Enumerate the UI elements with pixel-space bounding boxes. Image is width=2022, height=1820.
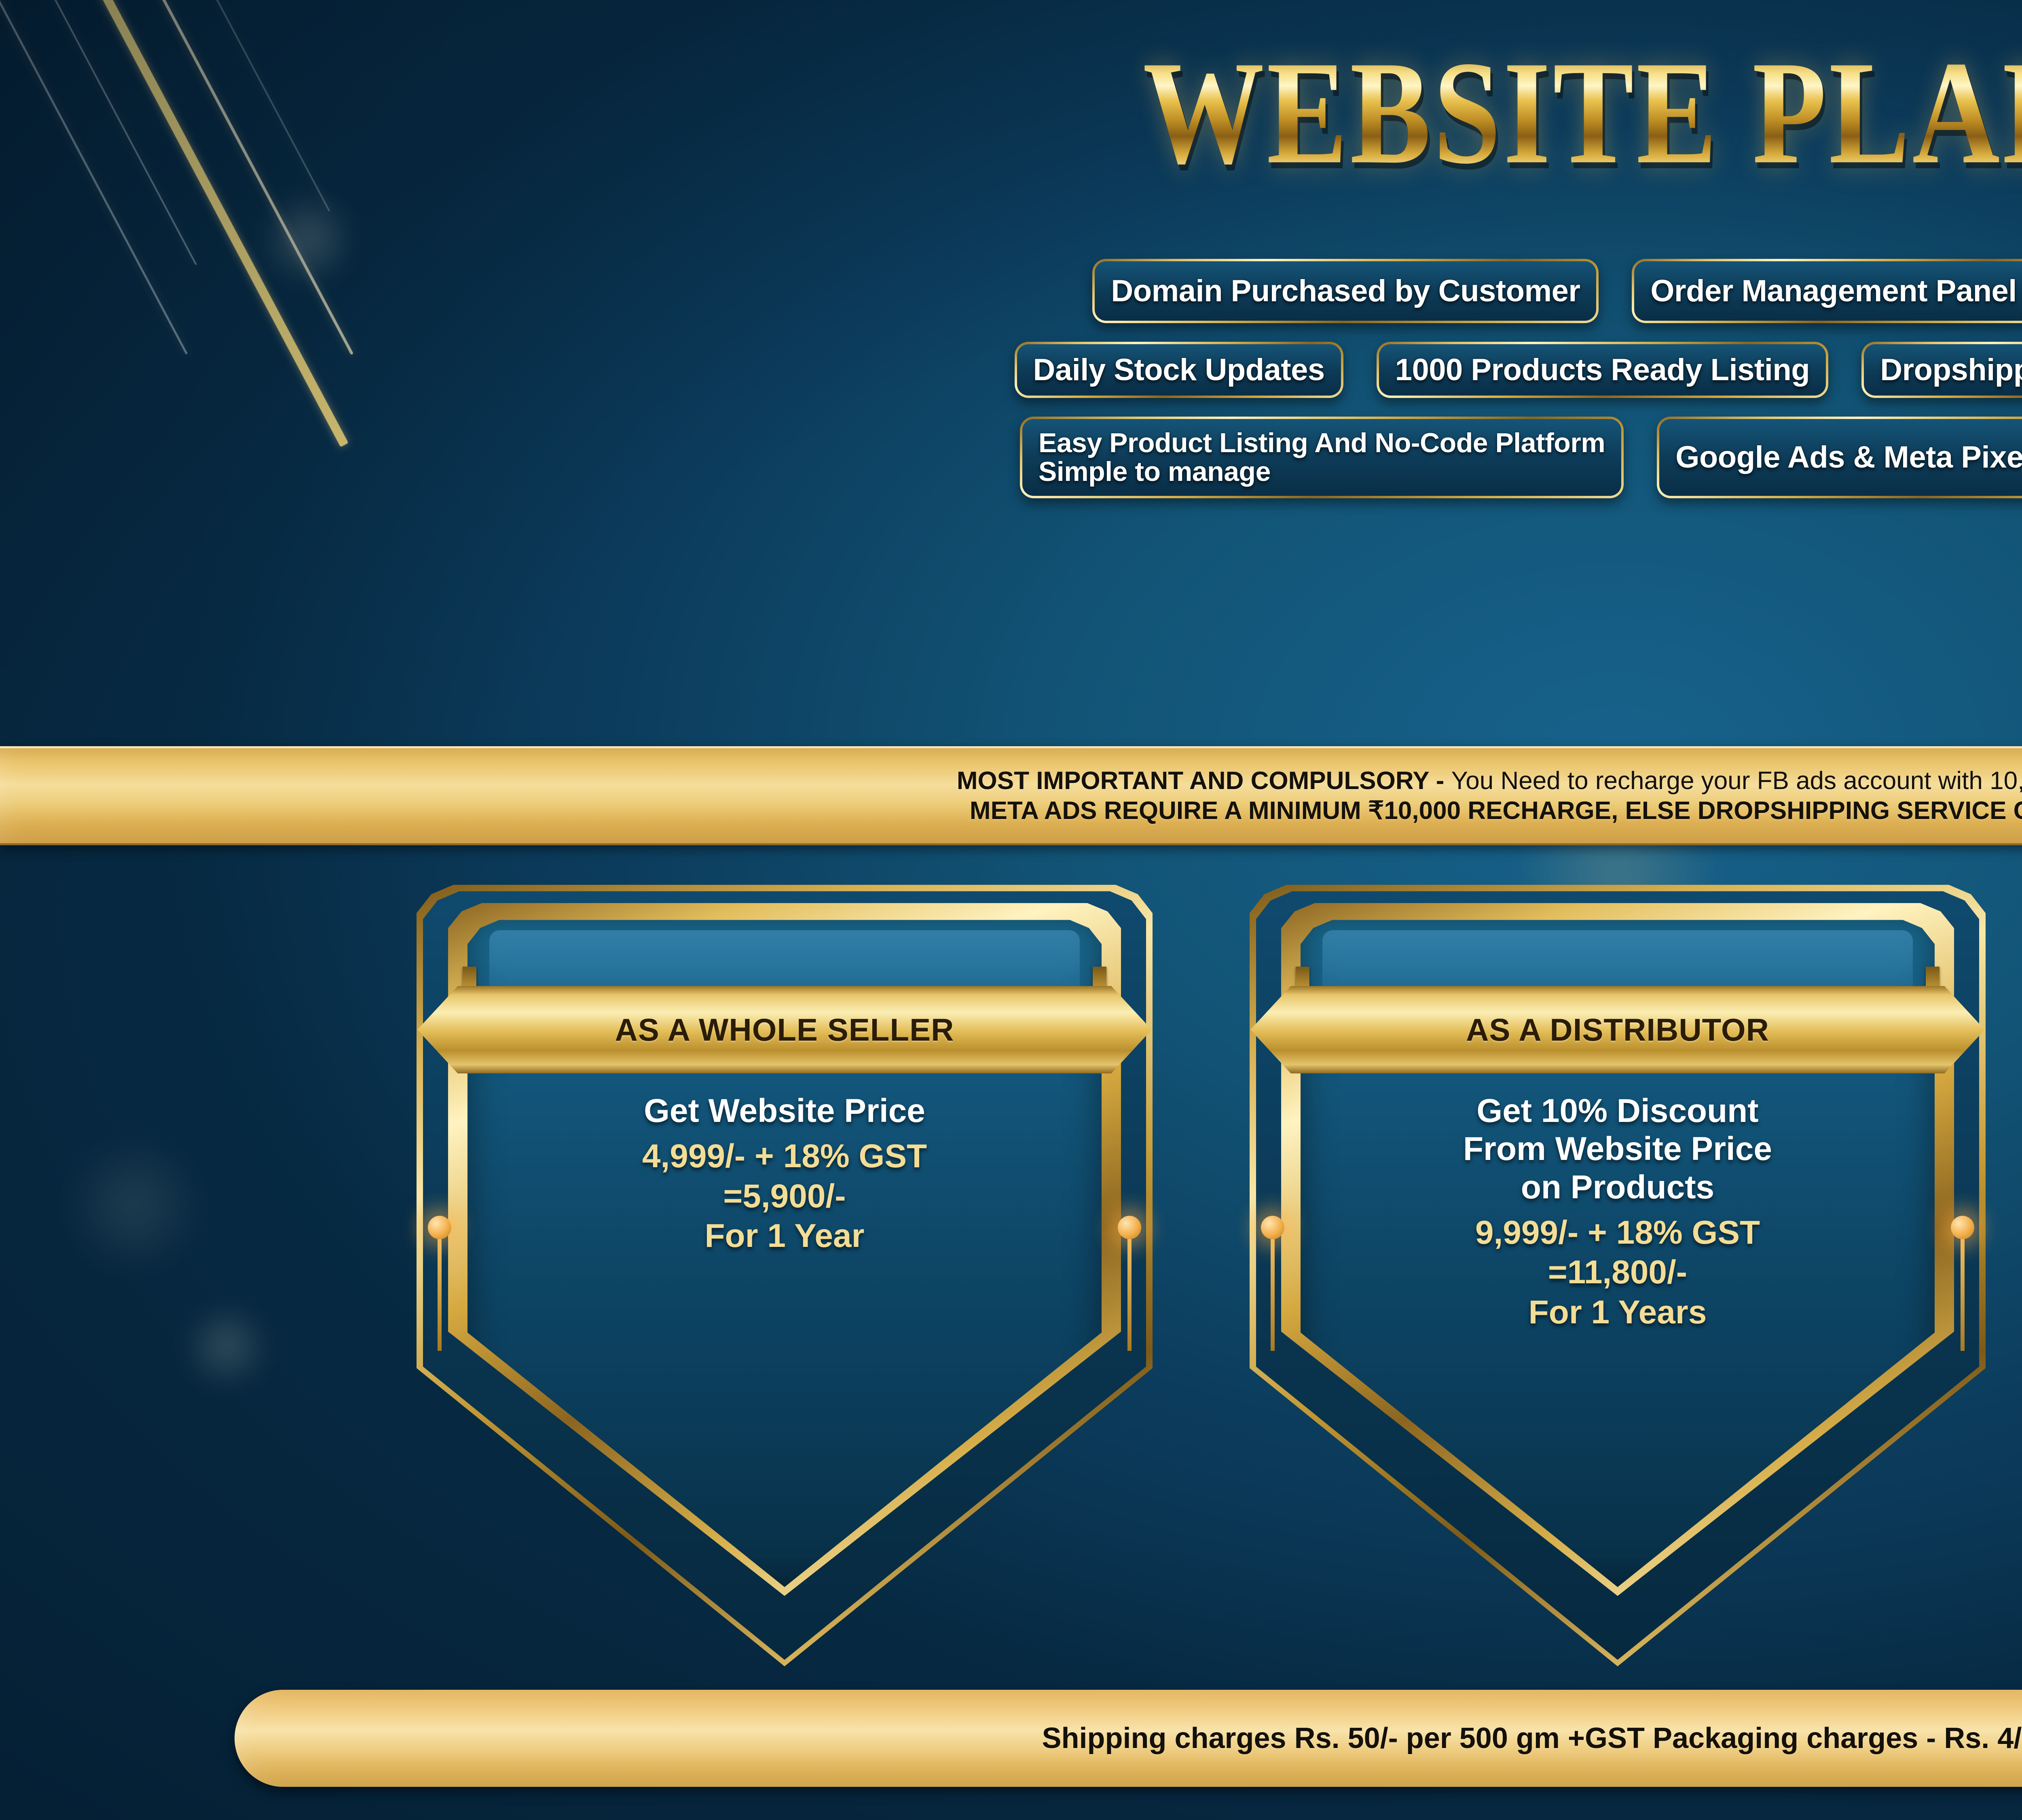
plan-price: 9,999/- + 18% GST =11,800/- For 1 Years (1322, 1213, 1913, 1332)
plan-card-whole-seller[interactable]: AS A WHOLE SELLER Get Website Price 4,99… (429, 890, 1140, 1658)
banner-line-1: MOST IMPORTANT AND COMPULSORY - You Need… (957, 767, 2022, 795)
feature-label: Dropshipping Support (1880, 354, 2022, 386)
feature-row-1: Domain Purchased by Customer Order Manag… (0, 259, 2022, 323)
plan-ribbon: AS A DISTRIBUTOR (1250, 986, 1985, 1073)
feature-box-google-ads-meta-pixel[interactable]: Google Ads & Meta Pixel Integration (1657, 417, 2022, 498)
plan-price: 4,999/- + 18% GST =5,900/- For 1 Year (489, 1136, 1080, 1256)
feature-box-order-management[interactable]: Order Management Panel (1632, 259, 2022, 323)
banner-line-2: META ADS REQUIRE A MINIMUM ₹10,000 RECHA… (970, 797, 2022, 825)
banner-line-1-rest: You Need to recharge your FB ads account… (1451, 767, 2022, 795)
plan-card-distributor[interactable]: AS A DISTRIBUTOR Get 10% Discount From W… (1262, 890, 1973, 1658)
glow-pin-head-icon (1118, 1216, 1141, 1239)
feature-box-order-management-combo: Order Management Panel No Monthly Hostin… (1632, 259, 2022, 323)
plan-ribbon: AS A WHOLE SELLER (417, 986, 1152, 1073)
feature-label: 1000 Products Ready Listing (1395, 354, 1810, 386)
feature-box-easy-product-listing[interactable]: Easy Product Listing And No-Code Platfor… (1020, 417, 1624, 498)
glow-pin-left (438, 1230, 442, 1351)
shipping-charges-bar: Shipping charges Rs. 50/- per 500 gm +GS… (235, 1690, 2022, 1787)
feature-label: Domain Purchased by Customer (1111, 275, 1580, 307)
glow-pin-head-icon (1951, 1216, 1974, 1239)
shipping-charges-label: Shipping charges Rs. 50/- per 500 gm +GS… (1042, 1722, 2022, 1755)
plan-content: Get Website Price 4,999/- + 18% GST =5,9… (489, 1092, 1080, 1256)
features-section: Domain Purchased by Customer Order Manag… (0, 259, 2022, 517)
page-title-wrap: WEBSITE PLAN (0, 38, 2022, 160)
pricing-plans-section: AS A WHOLE SELLER Get Website Price 4,99… (0, 890, 2022, 1658)
feature-box-daily-stock-updates[interactable]: Daily Stock Updates (1015, 342, 1343, 398)
feature-row-3: Easy Product Listing And No-Code Platfor… (0, 417, 2022, 498)
glow-pin-left (1271, 1230, 1275, 1351)
plan-heading: Get 10% Discount From Website Price on P… (1322, 1092, 1913, 1206)
glow-pin-right (1961, 1230, 1965, 1351)
feature-row-2: Daily Stock Updates 1000 Products Ready … (0, 342, 2022, 398)
glow-pin-head-icon (428, 1216, 451, 1239)
feature-label: Order Management Panel (1650, 275, 2017, 307)
plan-ribbon-label: AS A DISTRIBUTOR (1466, 1012, 1769, 1048)
feature-box-domain-purchased[interactable]: Domain Purchased by Customer (1092, 259, 1599, 323)
page-title: WEBSITE PLAN (1143, 38, 2022, 186)
glow-pin-right (1127, 1230, 1132, 1351)
plan-heading: Get Website Price (489, 1092, 1080, 1130)
compulsory-notice-banner: MOST IMPORTANT AND COMPULSORY - You Need… (0, 746, 2022, 845)
feature-label: Easy Product Listing And No-Code Platfor… (1038, 429, 1605, 486)
glow-pin-head-icon (1261, 1216, 1284, 1239)
plan-content: Get 10% Discount From Website Price on P… (1322, 1092, 1913, 1332)
feature-box-1000-products-ready-listing[interactable]: 1000 Products Ready Listing (1377, 342, 1829, 398)
feature-label: Google Ads & Meta Pixel Integration (1675, 441, 2022, 473)
plan-ribbon-label: AS A WHOLE SELLER (615, 1012, 954, 1048)
feature-box-dropshipping-support[interactable]: Dropshipping Support (1861, 342, 2022, 398)
banner-line-1-strong: MOST IMPORTANT AND COMPULSORY - (957, 767, 1451, 795)
feature-label: Daily Stock Updates (1033, 354, 1325, 386)
